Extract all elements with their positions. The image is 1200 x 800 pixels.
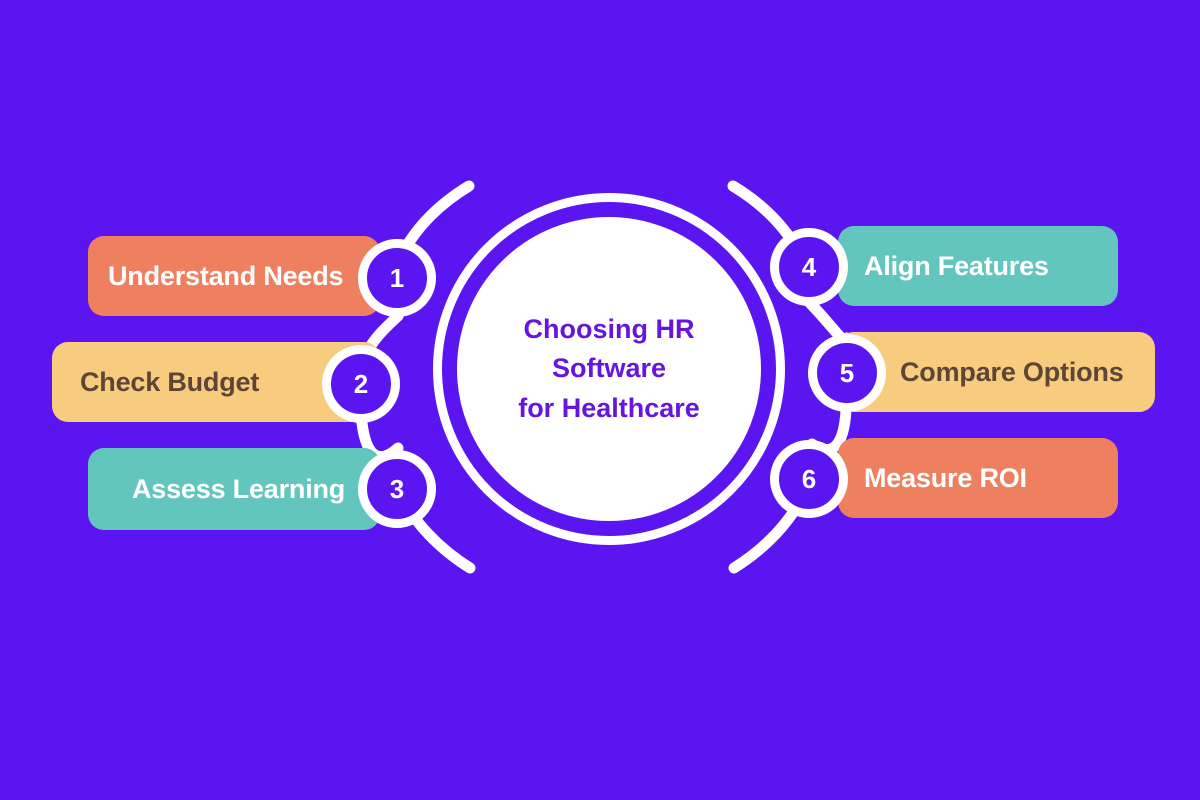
step-bar-3[interactable]: Assess Learning — [88, 448, 380, 530]
step-number-6: 6 — [802, 466, 816, 492]
step-badge-1[interactable]: 1 — [358, 239, 436, 317]
step-label-6: Measure ROI — [864, 463, 1027, 494]
step-label-4: Align Features — [864, 251, 1049, 282]
step-label-3: Assess Learning — [132, 474, 345, 505]
center-title-line2: for Healthcare — [518, 393, 700, 423]
step-number-4: 4 — [802, 254, 816, 280]
step-badge-5[interactable]: 5 — [808, 334, 886, 412]
step-badge-4[interactable]: 4 — [770, 228, 848, 306]
center-title: Choosing HR Software for Healthcare — [457, 310, 761, 427]
step-badge-3[interactable]: 3 — [358, 450, 436, 528]
step-bar-4[interactable]: Align Features — [838, 226, 1118, 306]
step-label-2: Check Budget — [80, 367, 259, 398]
step-label-1: Understand Needs — [108, 261, 343, 292]
step-label-5: Compare Options — [900, 357, 1124, 388]
center-title-line1: Choosing HR Software — [524, 314, 695, 383]
step-bar-1[interactable]: Understand Needs — [88, 236, 380, 316]
step-badge-6[interactable]: 6 — [770, 440, 848, 518]
step-number-5: 5 — [840, 360, 854, 386]
step-number-2: 2 — [354, 371, 368, 397]
step-number-3: 3 — [390, 476, 404, 502]
infographic-canvas: Understand Needs Check Budget Assess Lea… — [0, 0, 1200, 800]
step-number-1: 1 — [390, 265, 404, 291]
center-hub: Choosing HR Software for Healthcare — [452, 212, 766, 526]
step-badge-2[interactable]: 2 — [322, 345, 400, 423]
step-bar-6[interactable]: Measure ROI — [838, 438, 1118, 518]
